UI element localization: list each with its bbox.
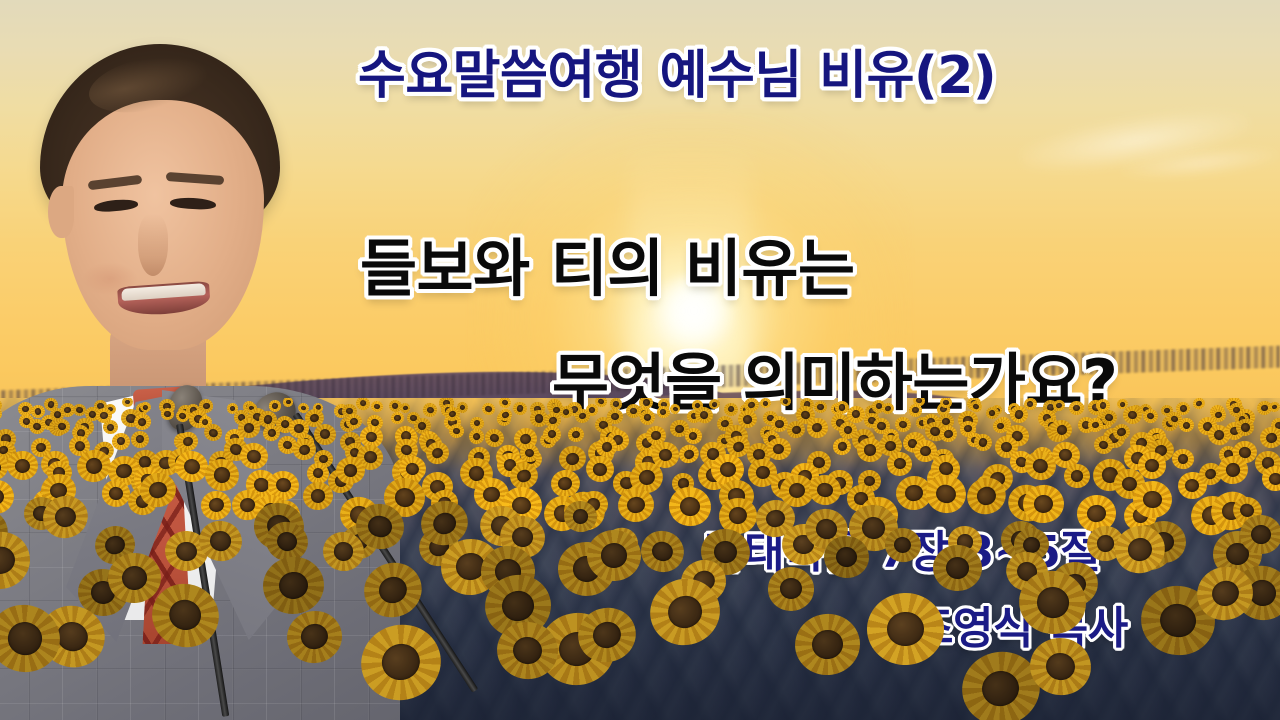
sunflower-center [643, 399, 650, 406]
sunflower-center [243, 423, 253, 433]
sunflower-center [1269, 472, 1280, 485]
sunflower-center [34, 407, 42, 415]
sunflower-center [893, 458, 905, 470]
sunflower-icon [607, 408, 623, 423]
sunflower-icon [1063, 463, 1089, 488]
sunflower-center [885, 440, 896, 450]
sunflower-icon [886, 451, 912, 475]
sunflower-icon [767, 567, 814, 611]
sunflower-center [817, 404, 824, 410]
sunflower-center [613, 401, 619, 407]
sunflower-center [782, 398, 788, 404]
nose [138, 214, 168, 276]
sermon-question-line-1: 들보와 티의 비유는 [360, 218, 855, 308]
sunflower-center [863, 444, 876, 456]
sunflower-center [310, 489, 325, 504]
sunflower-center [294, 424, 304, 433]
series-title: 수요말씀여행 예수님 비유(2) [358, 33, 996, 108]
teeth [121, 283, 206, 301]
sunflower-center [1119, 401, 1125, 407]
sunflower-center [877, 421, 886, 430]
sunflower-center [419, 422, 427, 430]
sunflower-icon [1068, 400, 1083, 414]
sunflower-center [1070, 470, 1083, 482]
sunflower-center [1240, 423, 1250, 433]
sunflower-center [535, 414, 544, 422]
sunflower-center [106, 424, 114, 431]
sunflower-center [175, 541, 197, 561]
sunflower-icon [122, 398, 133, 407]
sunflower-center [763, 401, 768, 406]
sunflower-center [611, 412, 619, 419]
sunflower-center [711, 401, 717, 407]
sunflower-center [1183, 422, 1190, 429]
sunflower-center [1072, 404, 1079, 411]
sunflower-icon [685, 428, 702, 444]
sunflower-center [1179, 405, 1186, 412]
ear [48, 186, 74, 238]
sunflower-icon [238, 418, 260, 438]
sunflower-icon [543, 426, 561, 443]
sunflower-center [674, 424, 684, 434]
sunflower-center [125, 399, 130, 404]
sunflower-icon [314, 424, 336, 445]
sunflower-icon [609, 398, 622, 410]
sermon-title-slide: 수요말씀여행 예수님 비유(2) 들보와 티의 비유는 무엇을 의미하는가요? … [0, 0, 1280, 720]
sunflower-center [402, 405, 407, 410]
sunflower-center [285, 400, 290, 405]
